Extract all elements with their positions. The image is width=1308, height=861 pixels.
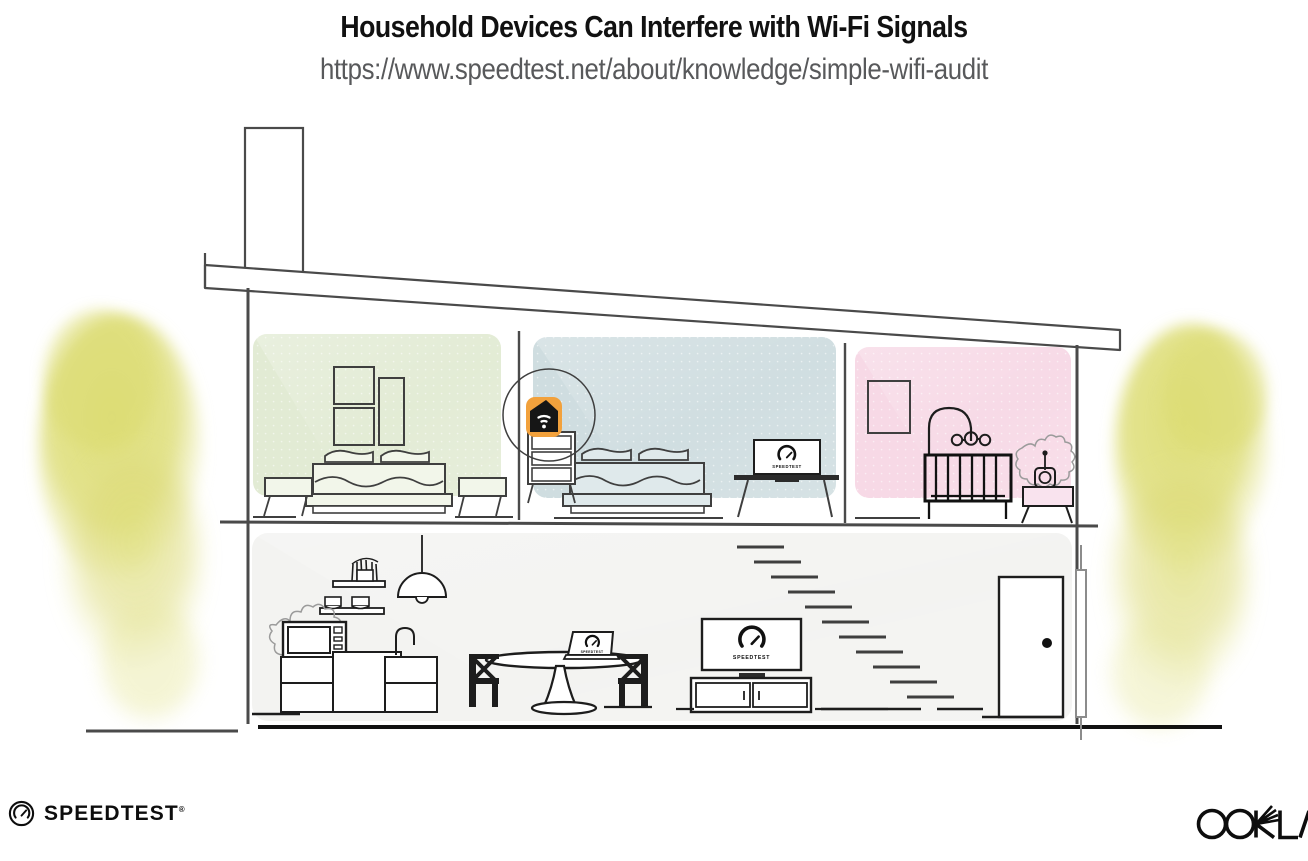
ookla-logo-icon: OOKLA	[1190, 797, 1308, 847]
monitor-screen-label: SPEEDTEST	[772, 464, 801, 469]
wifi-router	[526, 397, 562, 437]
room-nursery	[855, 347, 1071, 498]
nursery-nightstand	[1022, 487, 1073, 523]
media-console	[691, 678, 811, 712]
speedtest-logo[interactable]: SPEEDTEST®	[8, 800, 185, 827]
laptop: SPEEDTEST	[564, 632, 619, 659]
nightstand-right	[459, 478, 506, 516]
registered-mark: ®	[179, 805, 185, 814]
chimney	[245, 128, 303, 273]
illustration-page: Household Devices Can Interfere with Wi-…	[0, 0, 1308, 861]
tv-screen-label: SPEEDTEST	[733, 655, 770, 661]
speedtest-gauge-icon	[8, 800, 35, 827]
foliage-left	[38, 310, 202, 718]
house-cutaway-illustration: SPEEDTEST	[0, 0, 1308, 861]
speedtest-wordmark: SPEEDTEST®	[44, 802, 185, 826]
kitchen-counter	[281, 652, 437, 712]
sidelight-window	[1076, 545, 1086, 740]
television: SPEEDTEST	[702, 619, 801, 677]
nightstand-left	[264, 478, 312, 516]
foliage-right	[1110, 324, 1270, 727]
laptop-screen-label: SPEEDTEST	[581, 650, 604, 654]
ookla-logo[interactable]: OOKLA	[1190, 797, 1308, 852]
